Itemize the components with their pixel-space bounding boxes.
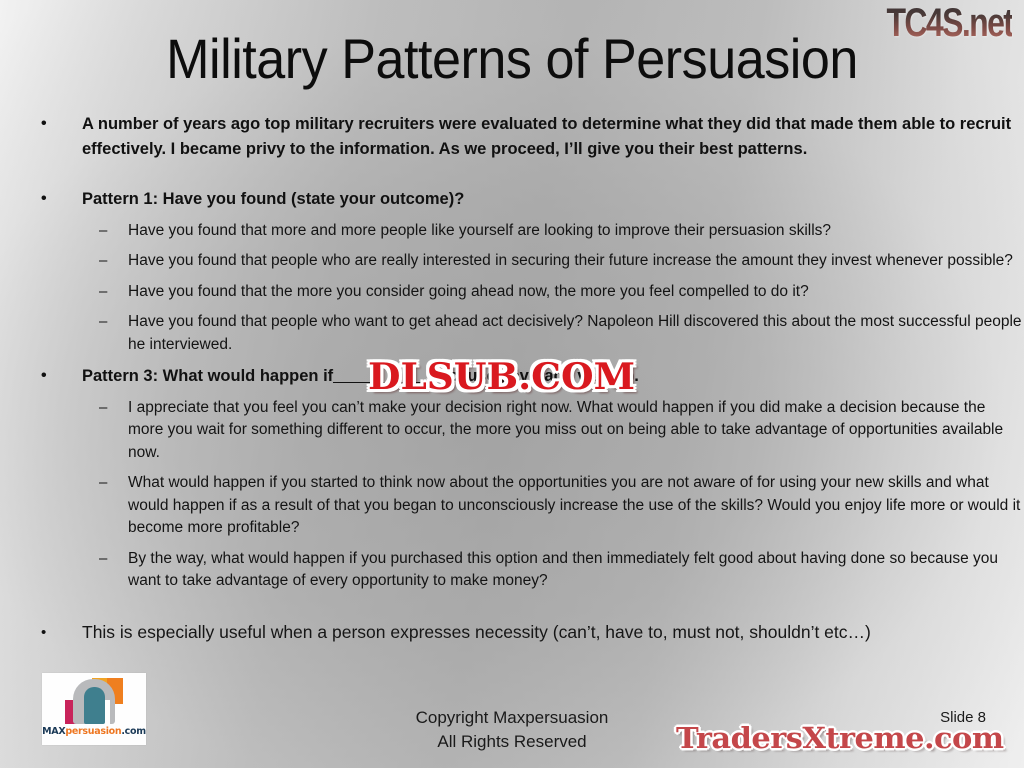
bullet-pattern1-heading: • Pattern 1: Have you found (state your … — [0, 187, 1024, 212]
list-item: – Have you found that the more you consi… — [0, 281, 1024, 304]
pattern1-heading-text: Pattern 1: Have you found (state your ou… — [82, 190, 464, 208]
pattern3-example-text: By the way, what would happen if you pur… — [128, 550, 998, 590]
dash-marker: – — [99, 281, 107, 304]
pattern3-heading-prefix: Pattern 3: What would happen if — [82, 367, 333, 385]
spacer — [0, 242, 1024, 250]
list-item: – By the way, what would happen if you p… — [0, 548, 1024, 593]
pattern3-example-text: What would happen if you started to thin… — [128, 474, 1020, 536]
dash-marker: – — [99, 472, 107, 495]
bullet-marker: • — [41, 364, 47, 389]
dash-marker: – — [99, 220, 107, 243]
bullet-intro-text: A number of years ago top military recru… — [82, 115, 1011, 158]
spacer — [0, 540, 1024, 548]
bullet-intro: • A number of years ago top military rec… — [0, 112, 1024, 161]
tradersxtreme-watermark: TradersXtreme.com — [676, 720, 1004, 756]
dlsub-watermark: DLSUB.COM — [368, 357, 635, 397]
dash-marker: – — [99, 311, 107, 334]
pattern1-example-text: Have you found that people who are reall… — [128, 252, 1013, 269]
list-item: – I appreciate that you feel you can’t m… — [0, 397, 1024, 465]
pattern1-example-text: Have you found that more and more people… — [128, 222, 831, 239]
spacer — [0, 303, 1024, 311]
bullet-marker: • — [41, 112, 47, 137]
bullet-closing-text: This is especially useful when a person … — [82, 622, 871, 642]
bullet-marker: • — [41, 619, 46, 646]
pattern1-example-text: Have you found that the more you conside… — [128, 283, 809, 300]
spacer — [0, 161, 1024, 187]
dash-marker: – — [99, 548, 107, 571]
spacer — [0, 464, 1024, 472]
list-item: – Have you found that people who want to… — [0, 311, 1024, 356]
pattern3-example-text: I appreciate that you feel you can’t mak… — [128, 399, 1003, 461]
list-item: – Have you found that people who are rea… — [0, 250, 1024, 273]
spacer — [0, 273, 1024, 281]
spacer — [0, 593, 1024, 619]
tc4s-watermark: TC4S.net — [886, 2, 1012, 44]
copyright-line-1: Copyright Maxpersuasion — [416, 708, 609, 727]
dash-marker: – — [99, 250, 107, 273]
spacer — [0, 212, 1024, 220]
list-item: – What would happen if you started to th… — [0, 472, 1024, 540]
dash-marker: – — [99, 397, 107, 420]
slide-canvas: Military Patterns of Persuasion TC4S.net… — [0, 0, 1024, 768]
page-title: Military Patterns of Persuasion — [36, 28, 988, 90]
bullet-marker: • — [41, 187, 47, 212]
list-item: – Have you found that more and more peop… — [0, 220, 1024, 243]
bullet-closing: • This is especially useful when a perso… — [0, 619, 1024, 646]
pattern1-example-text: Have you found that people who want to g… — [128, 313, 1022, 353]
